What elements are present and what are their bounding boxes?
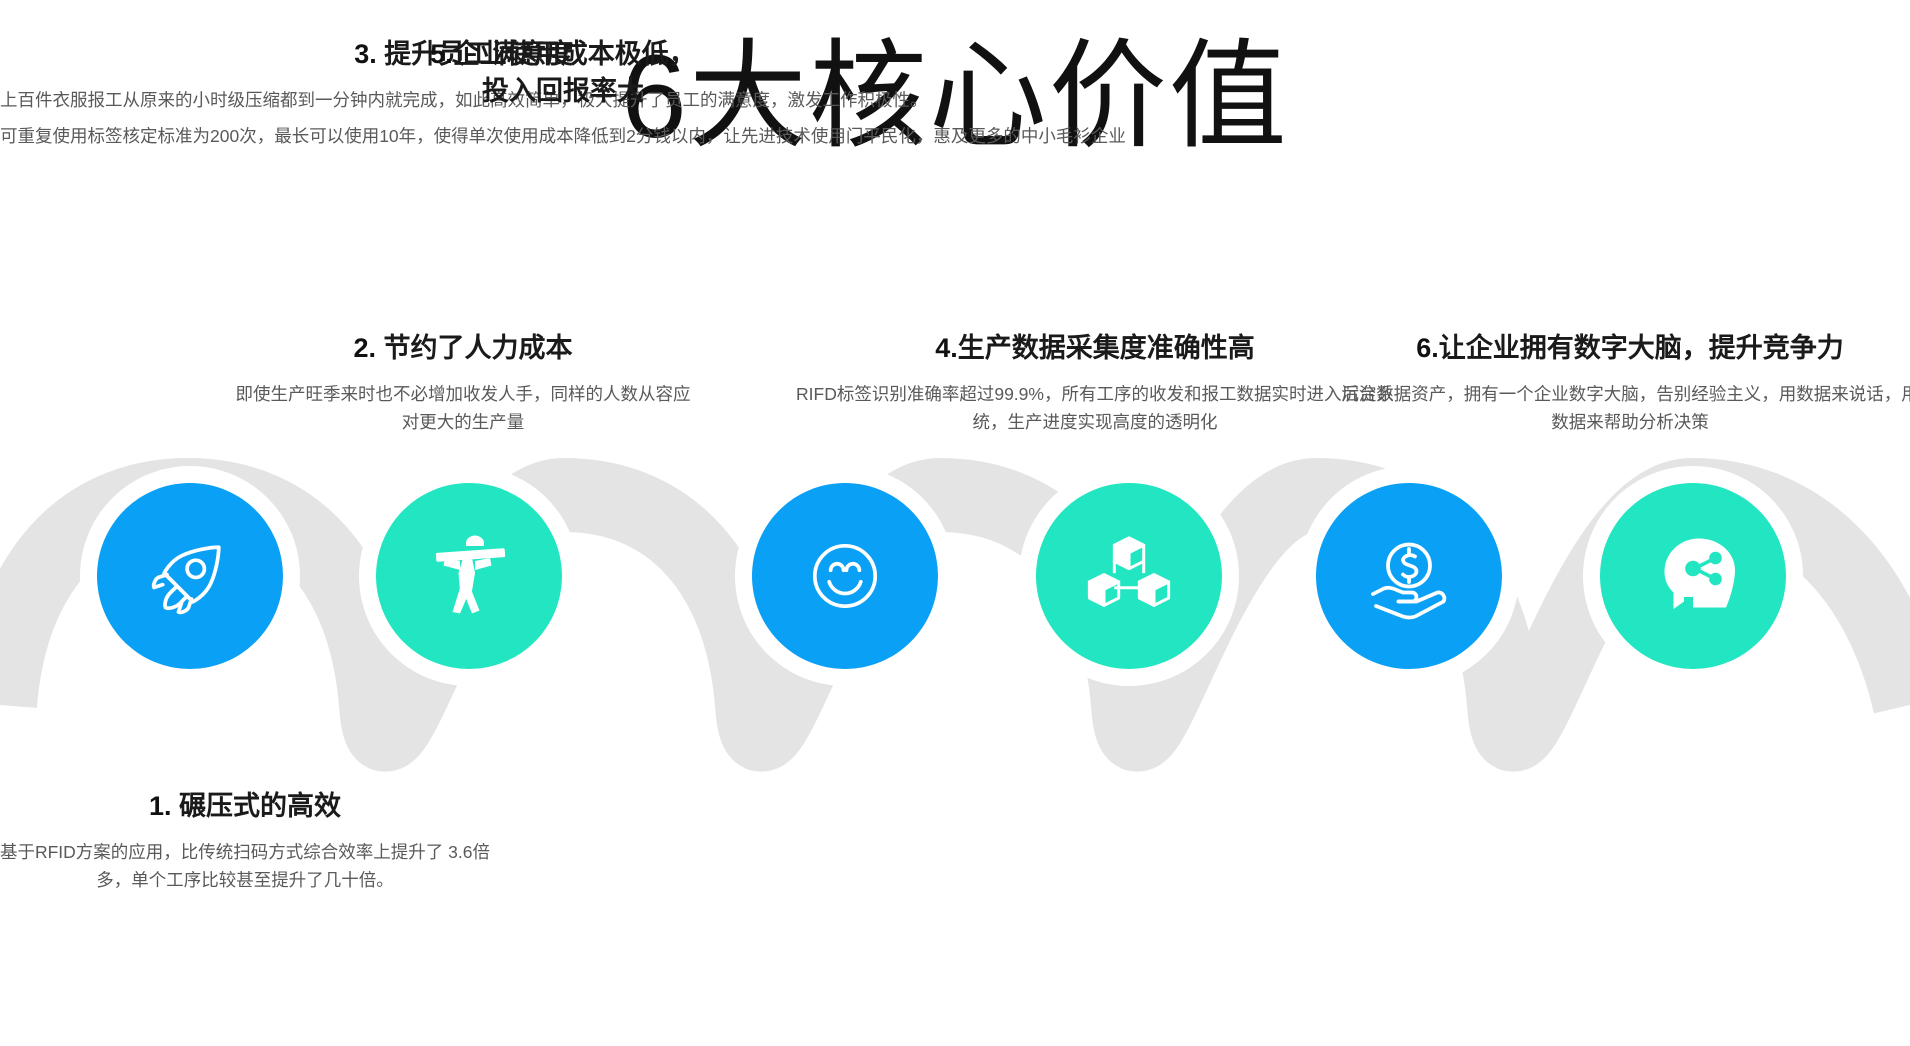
value-text-block-2: 2. 节约了人力成本 即使生产旺季来时也不必增加收发人手，同样的人数从容应对更大… bbox=[228, 294, 698, 437]
value-text-block-5: 5.企业使用成本极低， 投入回报率大 可重复使用标签核定标准为200次，最长可以… bbox=[0, 0, 1126, 151]
value-heading-4: 4.生产数据采集度准确性高 bbox=[795, 294, 1395, 367]
value-number-6: 6. bbox=[1416, 333, 1439, 363]
value-node-1[interactable] bbox=[97, 483, 283, 669]
value-text-block-1: 1. 碾压式的高效 基于RFID方案的应用，比传统扫码方式综合效率上提升了 3.… bbox=[0, 752, 495, 895]
value-body-1: 基于RFID方案的应用，比传统扫码方式综合效率上提升了 3.6倍多，单个工序比较… bbox=[0, 838, 495, 895]
value-node-2[interactable] bbox=[376, 483, 562, 669]
head-network-icon bbox=[1645, 528, 1741, 624]
smiley-face-icon bbox=[799, 530, 891, 622]
value-heading-text-4: 生产数据采集度准确性高 bbox=[958, 333, 1255, 363]
value-body-4: RIFD标签识别准确率超过99.9%，所有工序的收发和报工数据实时进入后台系统，… bbox=[795, 380, 1395, 437]
value-body-2: 即使生产旺季来时也不必增加收发人手，同样的人数从容应对更大的生产量 bbox=[228, 380, 698, 437]
value-heading-text-5: 企业使用成本极低， 投入回报率大 bbox=[453, 39, 696, 105]
value-text-block-6: 6.让企业拥有数字大脑，提升竞争力 沉淀数据资产，拥有一个企业数字大脑，告别经验… bbox=[1340, 294, 1910, 437]
icon-circle-4[interactable] bbox=[1036, 483, 1222, 669]
icon-circle-6[interactable] bbox=[1600, 483, 1786, 669]
value-heading-2: 2. 节约了人力成本 bbox=[228, 294, 698, 367]
value-number-4: 4. bbox=[935, 333, 958, 363]
worker-carrying-beam-icon bbox=[421, 528, 517, 624]
value-heading-text-6: 让企业拥有数字大脑，提升竞争力 bbox=[1439, 333, 1844, 363]
value-number-2: 2. bbox=[353, 333, 376, 363]
value-text-block-4: 4.生产数据采集度准确性高 RIFD标签识别准确率超过99.9%，所有工序的收发… bbox=[795, 294, 1395, 437]
value-number-5: 5. bbox=[430, 39, 453, 69]
value-node-6[interactable] bbox=[1600, 483, 1786, 669]
rocket-icon bbox=[144, 530, 236, 622]
value-node-3[interactable] bbox=[752, 483, 938, 669]
icon-circle-row bbox=[0, 455, 1910, 785]
icon-circle-2[interactable] bbox=[376, 483, 562, 669]
value-heading-5: 5.企业使用成本极低， 投入回报率大 bbox=[0, 0, 1126, 109]
value-heading-1: 1. 碾压式的高效 bbox=[0, 752, 495, 825]
icon-circle-3[interactable] bbox=[752, 483, 938, 669]
blockchain-cubes-icon bbox=[1082, 529, 1176, 623]
value-heading-text-2: 节约了人力成本 bbox=[376, 333, 573, 363]
value-number-1: 1. bbox=[149, 791, 172, 821]
value-node-5[interactable] bbox=[1316, 483, 1502, 669]
value-body-5: 可重复使用标签核定标准为200次，最长可以使用10年，使得单次使用成本降低到2分… bbox=[0, 122, 1126, 150]
infographic-canvas: 6大核心价值 bbox=[0, 0, 1910, 1046]
icon-circle-1[interactable] bbox=[97, 483, 283, 669]
hand-holding-dollar-icon bbox=[1361, 528, 1457, 624]
icon-circle-5[interactable] bbox=[1316, 483, 1502, 669]
value-heading-text-1: 碾压式的高效 bbox=[172, 791, 342, 821]
value-heading-6: 6.让企业拥有数字大脑，提升竞争力 bbox=[1340, 294, 1910, 367]
value-body-6: 沉淀数据资产，拥有一个企业数字大脑，告别经验主义，用数据来说话，用数据来帮助分析… bbox=[1340, 380, 1910, 437]
value-node-4[interactable] bbox=[1036, 483, 1222, 669]
